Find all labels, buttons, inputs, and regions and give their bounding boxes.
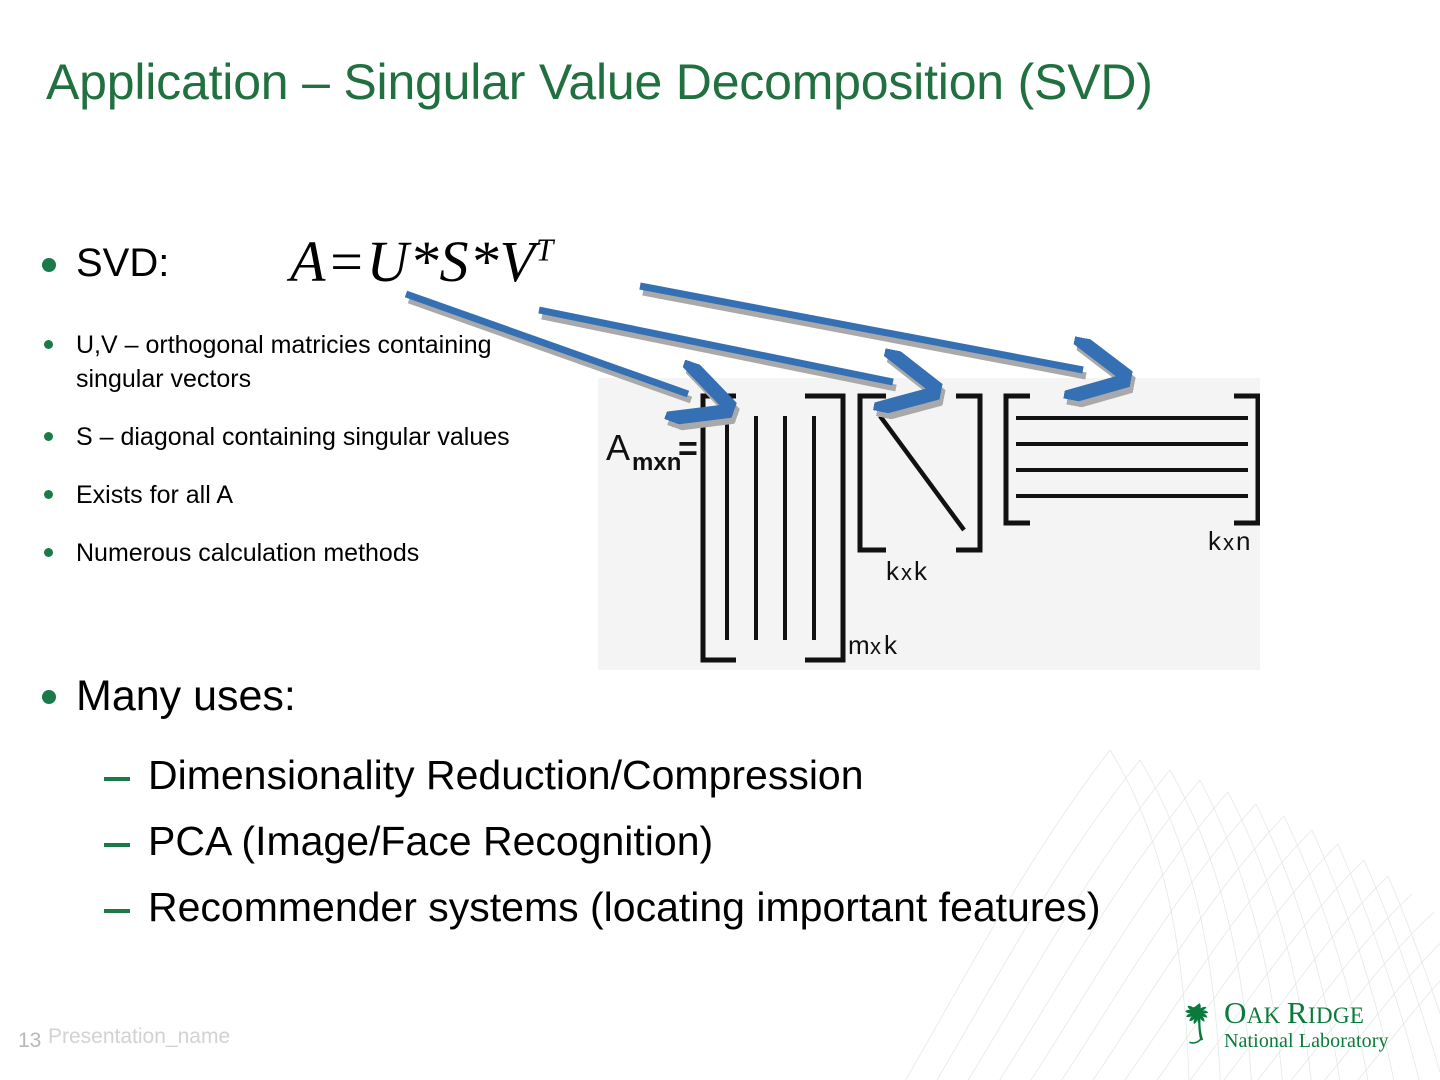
svg-text:k: k: [886, 556, 900, 586]
svg-text:x: x: [901, 560, 912, 585]
slide-canvas: Application – Singular Value Decompositi…: [0, 0, 1440, 1080]
list-item-label: Recommender systems (locating important …: [148, 882, 1100, 932]
ornl-logo-line2: National Laboratory: [1224, 1031, 1389, 1051]
svd-equation: A=U*S*VT: [290, 228, 554, 295]
list-item: Recommender systems (locating important …: [104, 882, 1104, 932]
svg-text:=: =: [678, 430, 698, 468]
svg-text:n: n: [1236, 526, 1250, 556]
uses-list: Dimensionality Reduction/Compression PCA…: [104, 750, 1104, 948]
equation-v: V: [499, 229, 535, 294]
equation-s: S: [439, 229, 469, 294]
bullet-many-uses-label: Many uses:: [76, 672, 296, 721]
bullet-dot-icon: [42, 258, 56, 272]
svg-text:x: x: [1223, 530, 1234, 555]
bullet-dot-icon: [42, 690, 56, 704]
svg-text:k: k: [914, 556, 928, 586]
bullet-dot-icon: [44, 490, 53, 499]
list-item: Exists for all A: [44, 478, 554, 512]
bullet-dot-icon: [44, 340, 53, 349]
dash-bullet-icon: [104, 777, 130, 781]
svg-text:x: x: [870, 634, 881, 659]
list-item-label: U,V – orthogonal matricies containing si…: [76, 328, 554, 396]
list-item-label: PCA (Image/Face Recognition): [148, 816, 713, 866]
list-item: U,V – orthogonal matricies containing si…: [44, 328, 554, 396]
list-item: Dimensionality Reduction/Compression: [104, 750, 1104, 800]
presentation-name: Presentation_name: [48, 1025, 230, 1049]
slide-number: 13: [18, 1029, 41, 1053]
equation-equals: =: [326, 229, 366, 294]
oak-leaf-icon: [1176, 1001, 1220, 1047]
equation-u: U: [367, 229, 410, 294]
equation-a: A: [290, 229, 326, 294]
ornl-logo-line1: OAK RIDGE: [1224, 997, 1389, 1028]
svg-text:m: m: [848, 630, 870, 660]
list-item-label: S – diagonal containing singular values: [76, 420, 510, 454]
list-item: Numerous calculation methods: [44, 536, 554, 570]
equation-star-1: *: [409, 229, 439, 294]
list-item: PCA (Image/Face Recognition): [104, 816, 1104, 866]
arrow-s-to-middle-matrix: [539, 310, 896, 388]
svg-text:k: k: [1208, 526, 1222, 556]
svg-text:k: k: [884, 630, 898, 660]
equation-transpose: T: [536, 233, 554, 268]
sub-bullet-list: U,V – orthogonal matricies containing si…: [44, 328, 554, 594]
bullet-many-uses: Many uses:: [42, 672, 296, 721]
svd-matrix-diagram: A mxn = m x k k x: [598, 378, 1260, 670]
bullet-dot-icon: [44, 432, 53, 441]
dash-bullet-icon: [104, 843, 130, 847]
page-title: Application – Singular Value Decompositi…: [46, 54, 1406, 112]
svg-text:A: A: [606, 427, 630, 468]
ornl-logo: OAK RIDGE National Laboratory: [1176, 994, 1400, 1054]
list-item: S – diagonal containing singular values: [44, 420, 554, 454]
list-item-label: Exists for all A: [76, 478, 233, 512]
ornl-logo-text: OAK RIDGE National Laboratory: [1224, 997, 1389, 1051]
dash-bullet-icon: [104, 909, 130, 913]
list-item-label: Dimensionality Reduction/Compression: [148, 750, 864, 800]
arrow-v-to-right-matrix: [640, 286, 1086, 376]
equation-star-2: *: [469, 229, 499, 294]
bullet-svd-label: SVD:: [76, 240, 169, 286]
list-item-label: Numerous calculation methods: [76, 536, 419, 570]
svg-text:mxn: mxn: [632, 449, 681, 476]
bullet-svd: SVD:: [42, 240, 169, 286]
bullet-dot-icon: [44, 548, 53, 557]
